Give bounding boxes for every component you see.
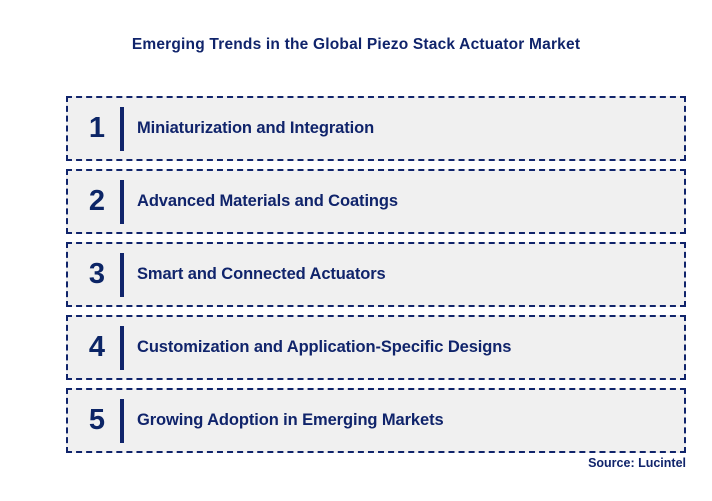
trend-rank-number: 3 [68, 260, 120, 289]
trend-rank-number: 4 [68, 333, 120, 362]
list-item[interactable]: 4 Customization and Application-Specific… [66, 315, 686, 380]
list-item[interactable]: 5 Growing Adoption in Emerging Markets [66, 388, 686, 453]
infographic-page: Emerging Trends in the Global Piezo Stac… [0, 0, 712, 501]
trend-rank-number: 2 [68, 187, 120, 216]
trend-label: Smart and Connected Actuators [124, 265, 684, 284]
trend-label: Miniaturization and Integration [124, 119, 684, 138]
trend-label: Customization and Application-Specific D… [124, 338, 684, 357]
list-item[interactable]: 2 Advanced Materials and Coatings [66, 169, 686, 234]
trend-rank-number: 5 [68, 406, 120, 435]
page-title: Emerging Trends in the Global Piezo Stac… [0, 36, 712, 54]
trend-list: 1 Miniaturization and Integration 2 Adva… [66, 96, 686, 461]
trend-rank-number: 1 [68, 114, 120, 143]
trend-label: Growing Adoption in Emerging Markets [124, 411, 684, 430]
list-item[interactable]: 1 Miniaturization and Integration [66, 96, 686, 161]
list-item[interactable]: 3 Smart and Connected Actuators [66, 242, 686, 307]
trend-label: Advanced Materials and Coatings [124, 192, 684, 211]
source-label: Source: Lucintel [588, 456, 686, 470]
